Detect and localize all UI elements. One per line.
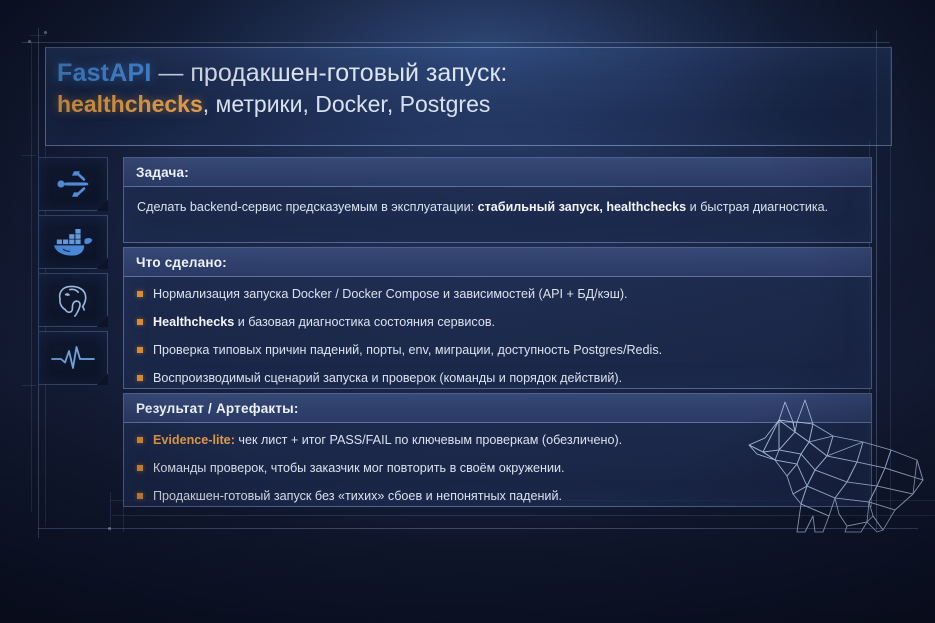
icon-tile-postgresql: [38, 273, 108, 327]
list-item: Воспроизводимый сценарий запуска и прове…: [137, 370, 857, 386]
section-task-paragraph: Сделать backend-сервис предсказуемым в э…: [137, 196, 857, 218]
postgresql-elephant-icon: [53, 283, 93, 317]
icon-tile-healthcheck: [38, 331, 108, 385]
page-title: FastAPI — продакшен-готовый запуск: heal…: [57, 58, 507, 119]
list-item: Проверка типовых причин падений, порты, …: [137, 342, 857, 358]
result-bullet-list: Evidence-lite: чек лист + итог PASS/FAIL…: [137, 432, 857, 504]
bullet-lead: Healthchecks: [153, 315, 234, 329]
list-item: Evidence-lite: чек лист + итог PASS/FAIL…: [137, 432, 857, 448]
bullet-text: Нормализация запуска Docker / Docker Com…: [153, 287, 628, 301]
slide-root: FastAPI — продакшен-готовый запуск: heal…: [0, 0, 935, 623]
title-highlight: healthchecks: [57, 91, 203, 117]
bullet-text: Воспроизводимый сценарий запуска и прове…: [153, 371, 622, 385]
icon-tile-fastapi: [38, 157, 108, 211]
title-dash: —: [151, 59, 190, 87]
title-brand: FastAPI: [57, 59, 151, 87]
bullet-text: Команды проверок, чтобы заказчик мог пов…: [153, 461, 565, 475]
task-text-b: стабильный запуск, healthchecks: [478, 200, 687, 214]
task-text-c: и быстрая диагностика.: [686, 200, 828, 214]
title-line1-rest: продакшен-готовый запуск:: [190, 59, 507, 87]
heartbeat-pulse-icon: [50, 344, 96, 372]
bullet-text: чек лист + итог PASS/FAIL по ключевым пр…: [235, 433, 622, 447]
done-bullet-list: Нормализация запуска Docker / Docker Com…: [137, 286, 857, 386]
bullet-text: и базовая диагностика состояния сервисов…: [234, 315, 495, 329]
task-text-a: Сделать backend-сервис предсказуемым в э…: [137, 200, 478, 214]
section-result-body: Evidence-lite: чек лист + итог PASS/FAIL…: [124, 423, 871, 516]
bullet-text: Проверка типовых причин падений, порты, …: [153, 343, 662, 357]
bullet-lead-accent: Evidence-lite:: [153, 433, 235, 447]
title-line2-rest: , метрики, Docker, Postgres: [203, 91, 491, 117]
list-item: Нормализация запуска Docker / Docker Com…: [137, 286, 857, 302]
section-task-header: Задача:: [124, 158, 871, 187]
section-done-header: Что сделано:: [124, 248, 871, 277]
section-done: Что сделано: Нормализация запуска Docker…: [123, 247, 872, 389]
bullet-text: Продакшен-готовый запуск без «тихих» сбо…: [153, 489, 562, 503]
list-item: Команды проверок, чтобы заказчик мог пов…: [137, 460, 857, 476]
fastapi-logo-icon: [53, 170, 93, 198]
list-item: Healthchecks и базовая диагностика состо…: [137, 314, 857, 330]
icon-tile-docker: [38, 215, 108, 269]
list-item: Продакшен-готовый запуск без «тихих» сбо…: [137, 488, 857, 504]
section-done-body: Нормализация запуска Docker / Docker Com…: [124, 277, 871, 398]
section-result-header: Результат / Артефакты:: [124, 394, 871, 423]
docker-whale-icon: [51, 227, 95, 257]
section-task-body: Сделать backend-сервис предсказуемым в э…: [124, 187, 871, 228]
section-task: Задача: Сделать backend-сервис предсказу…: [123, 157, 872, 243]
section-result: Результат / Артефакты: Evidence-lite: че…: [123, 393, 872, 507]
